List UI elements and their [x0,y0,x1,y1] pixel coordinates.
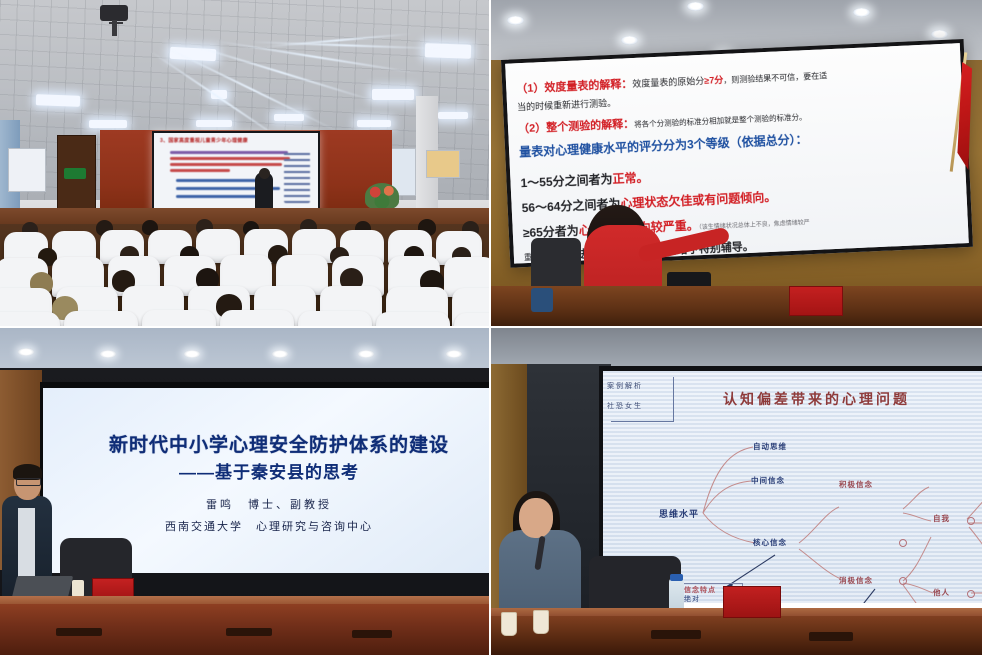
slide-subtitle: ——基于秦安县的思考 [59,458,479,483]
ceiling-lamp [425,43,471,59]
ceiling-lamp [36,94,80,107]
ceiling-lamp [438,112,468,119]
projector-stem [112,20,117,36]
glasses-icon [16,478,41,486]
slide-line-1d: ，则测验结果不可信，要在适 [723,71,827,85]
diagram-node-negative-belief: 消极信念 [839,575,873,586]
slide-title: 新时代中小学心理安全防护体系的建设 [59,430,489,457]
paper-cup [533,610,549,634]
wall-poster [426,150,460,178]
slide-content: （1）效度量表的解释：效度量表的原始分≥7分，则测验结果不可信，要在适 当的时候… [505,43,969,263]
slide-title: 3、国家高度重视儿童青少年心理健康 [160,137,314,144]
ceiling-lamp [372,89,414,100]
tag-line-1: 案例解析 [607,381,643,391]
diagram-node-self: 自我 [933,513,950,524]
speaker-head [259,168,270,179]
ceiling-lamp [196,120,232,127]
slide-line-4: 量表对心理健康水平的评分分为3个等级（依据总分）： [519,133,808,160]
nameplate [789,286,843,316]
exit-sign-icon [64,168,86,179]
head-table [491,616,982,655]
diagram-node-positive-belief: 积极信念 [839,479,873,490]
paper-cup [501,612,517,636]
slide-presenter: 雷鸣 博士、副教授 [59,496,479,512]
slide-title: 认知偏差带来的心理问题 [723,389,910,409]
diagram-node-thinking-level: 思维水平 [659,507,699,520]
ceiling-lamp [89,120,127,128]
head-table [491,286,982,326]
panel-cognitive-bias-diagram: 案例解析 社恐女生 认知偏差带来的心理问题 [491,328,982,655]
wall-poster [8,148,46,192]
diagram-node-core-belief: 核心信念 [753,537,787,548]
table-panel [352,630,392,638]
table-panel [651,630,701,639]
ceiling-lamp [274,114,304,121]
tag-line-2: 社恐女生 [607,401,643,411]
photo-collage: 3、国家高度重视儿童青少年心理健康 [0,0,982,655]
slide-line-3b: 将各个分测验的标准分相加就是整个测验的标准分。 [634,112,807,129]
panel-title-slide: 新时代中小学心理安全防护体系的建设 ——基于秦安县的思考 雷鸣 博士、副教授 西… [0,328,489,655]
diagram-node-automatic-thought: 自动思维 [753,441,787,452]
diagram-node-intermediate-belief: 中间信念 [751,475,785,486]
bottle-cap [670,574,683,581]
panel-auditorium-wide: 3、国家高度重视儿童青少年心理健康 [0,0,489,326]
slide-line-5a: 1～55分之间者为 [520,172,613,190]
slide-line-1c: ≥7分 [704,75,723,86]
projection-screen: 3、国家高度重视儿童青少年心理健康 [152,131,320,213]
table-panel [809,632,853,641]
desk-item [531,288,553,312]
slide-line-6b: 心理状态欠佳或有问题倾向。 [620,190,776,211]
flower-arrangement [365,183,399,209]
presenter-head [519,498,553,538]
projection-screen: （1）效度量表的解释：效度量表的原始分≥7分，则测验结果不可信，要在适 当的时候… [501,39,973,268]
slide-affiliation: 西南交通大学 心理研究与咨询中心 [59,518,479,534]
slide-line-5b: 正常。 [612,171,649,187]
nameplate [723,586,781,618]
panel-slide-scale-scores: （1）效度量表的解释：效度量表的原始分≥7分，则测验结果不可信，要在适 当的时候… [491,0,982,326]
projector-icon [100,5,128,21]
ceiling-lamp [357,120,391,127]
diagram-node-others: 他人 [933,587,950,598]
slide-line-1b: 效度量表的原始分 [632,76,704,89]
slide-line-2: 当的时候重新进行测验。 [517,98,616,112]
table-panel [56,628,102,636]
table-panel [226,628,272,636]
slide-line-3a: （2）整个测验的解释： [518,118,635,135]
